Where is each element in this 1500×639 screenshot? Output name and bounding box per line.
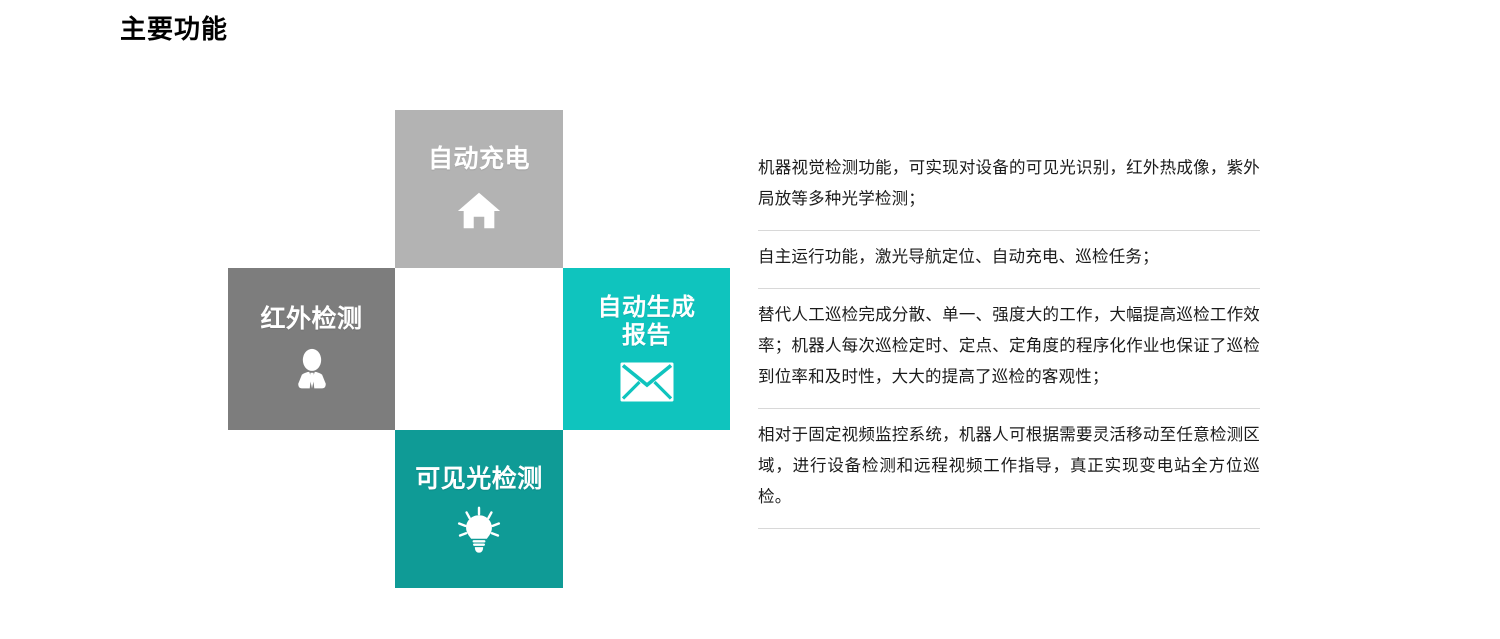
description-text: 机器视觉检测功能，可实现对设备的可见光识别，红外热成像，紫外局放等多种光学检测； xyxy=(758,152,1260,214)
feature-tile-center-empty xyxy=(395,268,563,430)
feature-tile-label: 自动生成 报告 xyxy=(598,294,696,350)
home-icon xyxy=(455,186,503,234)
feature-tile-infrared-detection[interactable]: 红外检测 xyxy=(228,268,395,430)
feature-tile-auto-charging[interactable]: 自动充电 xyxy=(395,110,563,268)
description-list: 机器视觉检测功能，可实现对设备的可见光识别，红外热成像，紫外局放等多种光学检测；… xyxy=(758,142,1260,529)
envelope-icon xyxy=(619,360,675,404)
description-text: 自主运行功能，激光导航定位、自动充电、巡检任务； xyxy=(758,241,1260,272)
description-text: 相对于固定视频监控系统，机器人可根据需要灵活移动至任意检测区域，进行设备检测和远… xyxy=(758,419,1260,512)
description-item: 替代人工巡检完成分散、单一、强度大的工作，大幅提高巡检工作效率；机器人每次巡检定… xyxy=(758,289,1260,409)
description-item: 自主运行功能，激光导航定位、自动充电、巡检任务； xyxy=(758,231,1260,289)
user-tie-icon xyxy=(288,346,336,394)
feature-grid: 自动充电 红外检测 自动生成 报告 xyxy=(228,110,730,588)
feature-tile-label: 红外检测 xyxy=(260,305,362,334)
feature-tile-auto-report[interactable]: 自动生成 报告 xyxy=(563,268,730,430)
feature-tile-label: 自动充电 xyxy=(428,145,530,174)
description-item: 机器视觉检测功能，可实现对设备的可见光识别，红外热成像，紫外局放等多种光学检测； xyxy=(758,142,1260,231)
description-text: 替代人工巡检完成分散、单一、强度大的工作，大幅提高巡检工作效率；机器人每次巡检定… xyxy=(758,299,1260,392)
feature-tile-label: 可见光检测 xyxy=(415,465,543,494)
description-item: 相对于固定视频监控系统，机器人可根据需要灵活移动至任意检测区域，进行设备检测和远… xyxy=(758,409,1260,529)
page-title: 主要功能 xyxy=(120,14,228,45)
feature-tile-visible-light-detection[interactable]: 可见光检测 xyxy=(395,430,563,588)
lightbulb-icon xyxy=(455,506,503,554)
